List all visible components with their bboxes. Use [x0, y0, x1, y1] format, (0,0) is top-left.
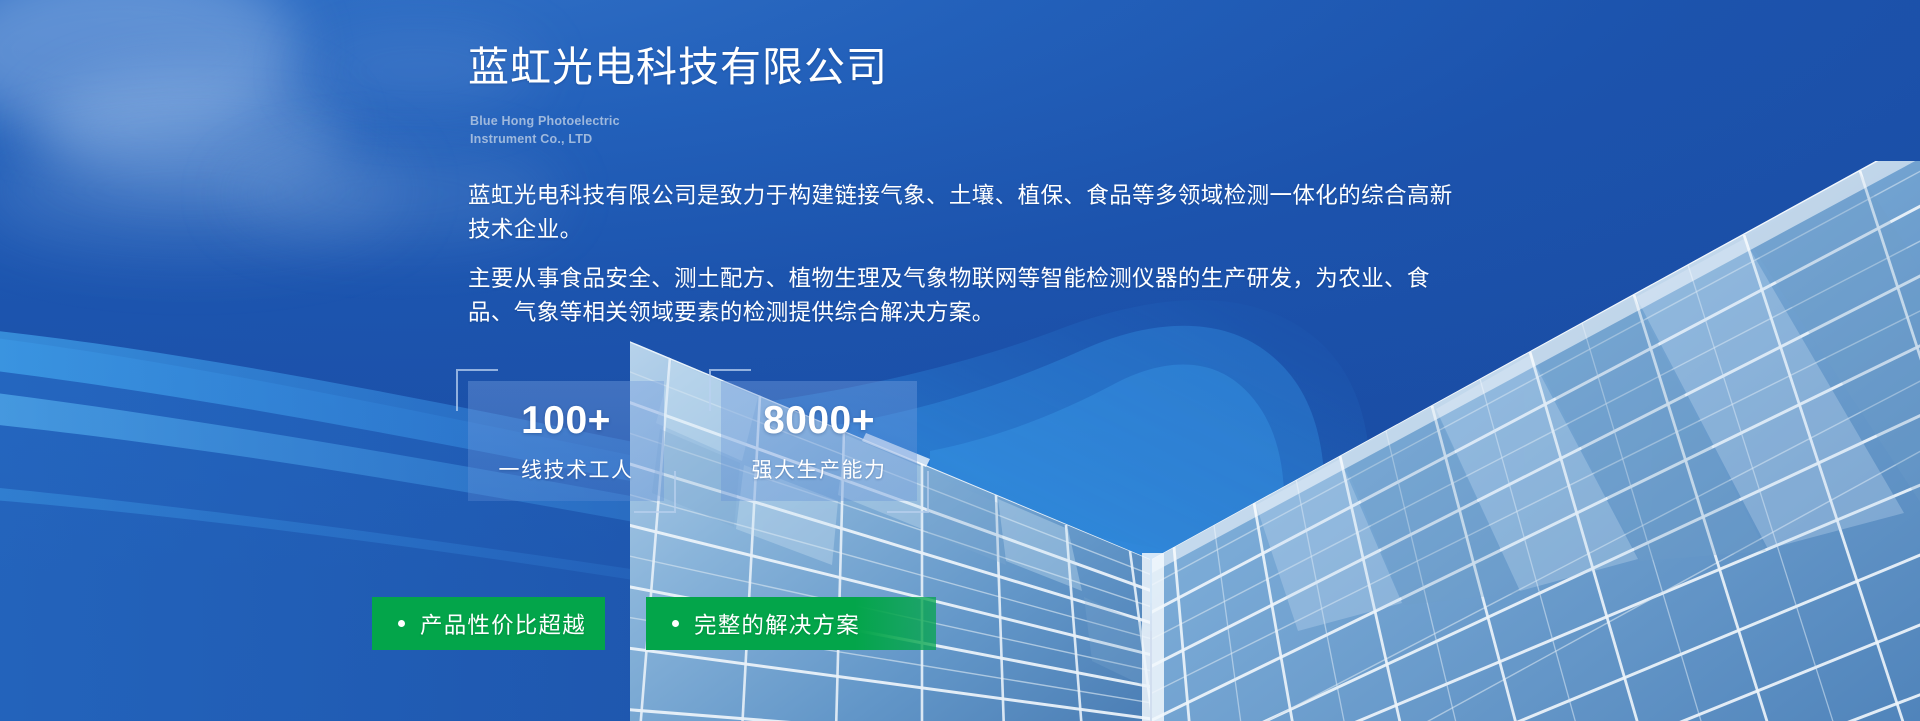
bullet-dot-icon	[398, 620, 405, 627]
stat-card-workers: 100+ 一线技术工人	[468, 381, 664, 501]
corner-bracket-top-left-icon	[709, 369, 751, 411]
hero-banner: 蓝虹光电科技有限公司 Blue Hong Photoelectric Instr…	[0, 0, 1920, 721]
highlight-label: 产品性价比超越	[420, 608, 586, 640]
company-name-en-line2: Instrument Co., LTD	[470, 130, 620, 148]
stat-card-capacity: 8000+ 强大生产能力	[721, 381, 917, 501]
corner-bracket-bottom-right-icon	[634, 471, 676, 513]
highlights-bar: 产品性价比超越 完整的解决方案	[372, 597, 936, 650]
company-name-en: Blue Hong Photoelectric Instrument Co., …	[470, 112, 620, 148]
stat-label: 一线技术工人	[499, 460, 634, 481]
stat-label: 强大生产能力	[752, 460, 887, 481]
description-paragraph-1: 蓝虹光电科技有限公司是致力于构建链接气象、土壤、植保、食品等多领域检测一体化的综…	[468, 179, 1458, 247]
highlight-item-solution: 完整的解决方案	[646, 597, 936, 650]
stats-group: 100+ 一线技术工人 8000+ 强大生产能力	[468, 381, 917, 501]
description-paragraph-2: 主要从事食品安全、测土配方、植物生理及气象物联网等智能检测仪器的生产研发，为农业…	[468, 262, 1458, 330]
corner-bracket-bottom-right-icon	[887, 471, 929, 513]
highlight-label: 完整的解决方案	[694, 608, 860, 640]
bullet-dot-icon	[672, 620, 679, 627]
stat-value: 8000+	[763, 401, 875, 440]
hero-content: 蓝虹光电科技有限公司 Blue Hong Photoelectric Instr…	[468, 0, 1648, 721]
stat-value: 100+	[521, 401, 611, 440]
highlight-item-value: 产品性价比超越	[372, 597, 605, 650]
company-name-zh: 蓝虹光电科技有限公司	[468, 44, 888, 91]
company-name-en-line1: Blue Hong Photoelectric	[470, 112, 620, 130]
